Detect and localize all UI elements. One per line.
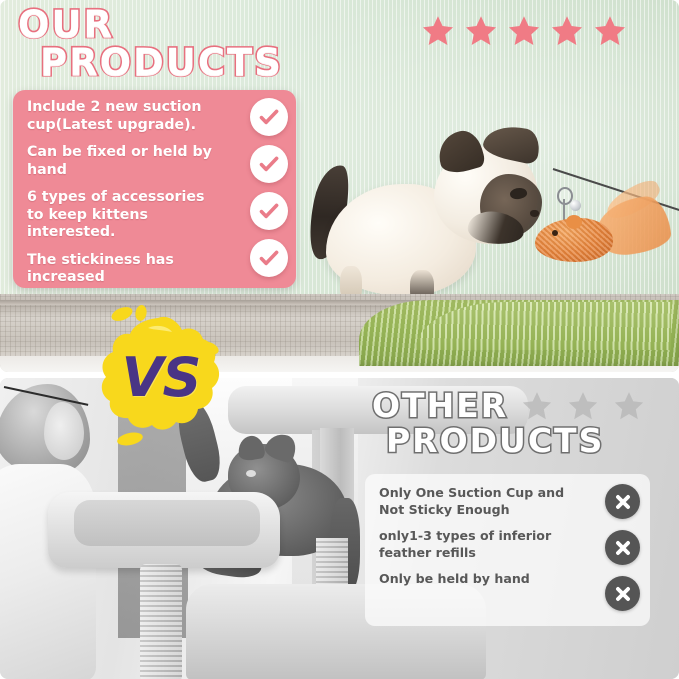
our-products-feature-card: Include 2 new suction cup(Latest upgrade… [13, 90, 296, 288]
feature-item: Include 2 new suction cup(Latest upgrade… [27, 99, 238, 134]
green-blanket-fold [416, 302, 671, 350]
mouse-toy-eye [552, 230, 558, 236]
star-icon [521, 390, 553, 422]
wand-bell-icon [570, 200, 581, 211]
x-icon [605, 576, 640, 611]
our-products-rating [421, 14, 627, 48]
star-icon [464, 14, 498, 48]
check-icon [250, 145, 288, 183]
star-icon [613, 390, 645, 422]
drawback-cross-column [605, 484, 640, 611]
star-icon [421, 14, 455, 48]
drawback-list: Only One Suction Cup and Not Sticky Enou… [379, 485, 592, 598]
other-products-drawback-card: Only One Suction Cup and Not Sticky Enou… [365, 474, 650, 626]
star-icon [567, 390, 599, 422]
feature-check-column [250, 98, 288, 277]
x-icon [605, 484, 640, 519]
drawback-item: Only be held by hand [379, 571, 592, 588]
check-icon [250, 98, 288, 136]
other-products-rating [521, 390, 645, 422]
feature-item: Can be fixed or held by hand [27, 144, 238, 179]
feature-list: Include 2 new suction cup(Latest upgrade… [27, 99, 238, 297]
star-icon [593, 14, 627, 48]
check-icon [250, 239, 288, 277]
kitten-nose [530, 210, 539, 217]
cat-tree-shelf-inner [74, 500, 260, 546]
other-title-line-2: PRODUCTS [372, 423, 672, 458]
vs-label: VS [86, 300, 236, 450]
wand-string [563, 199, 565, 221]
our-title-line-2: PRODUCTS [18, 44, 438, 82]
star-icon [550, 14, 584, 48]
vs-badge: VS [86, 300, 236, 450]
star-icon [507, 14, 541, 48]
comparison-infographic: OUR PRODUCTS Include 2 new suction cup(L… [0, 0, 679, 679]
check-icon [250, 192, 288, 230]
our-title-line-1: OUR [18, 6, 438, 44]
drawback-item: only1-3 types of inferior feather refill… [379, 528, 592, 561]
drawback-item: Only One Suction Cup and Not Sticky Enou… [379, 485, 592, 518]
feature-item: The stickiness has increased [27, 252, 238, 287]
mouse-toy-ear [566, 215, 582, 229]
gray-cat-eye [246, 470, 256, 477]
cat-tree-sisal-trunk [140, 564, 182, 679]
our-products-title: OUR PRODUCTS [18, 6, 438, 82]
kitten-photo [318, 128, 568, 318]
feature-item: 6 types of accessories to keep kittens i… [27, 189, 238, 242]
x-icon [605, 530, 640, 565]
